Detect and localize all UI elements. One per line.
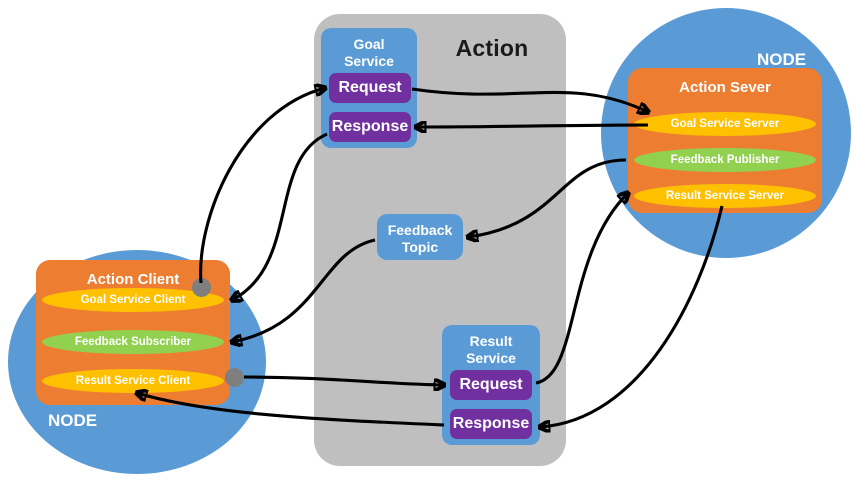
arrow-feedback-topic-to-subscriber xyxy=(232,240,375,342)
arrow-goal-client-to-goal-request xyxy=(201,88,325,283)
arrow-goal-request-to-goal-server xyxy=(412,89,648,112)
arrow-goal-response-to-goal-client xyxy=(232,134,327,300)
arrow-result-response-to-result-client xyxy=(137,393,444,425)
arrow-goal-server-to-goal-response xyxy=(416,125,648,127)
arrow-result-server-to-result-response xyxy=(540,206,722,427)
arrow-result-request-to-result-server xyxy=(536,193,628,383)
connection-arrows xyxy=(0,0,854,480)
diagram-canvas: Action Goal Service Request Response Fee… xyxy=(0,0,854,480)
arrow-result-client-to-result-request xyxy=(244,377,444,385)
